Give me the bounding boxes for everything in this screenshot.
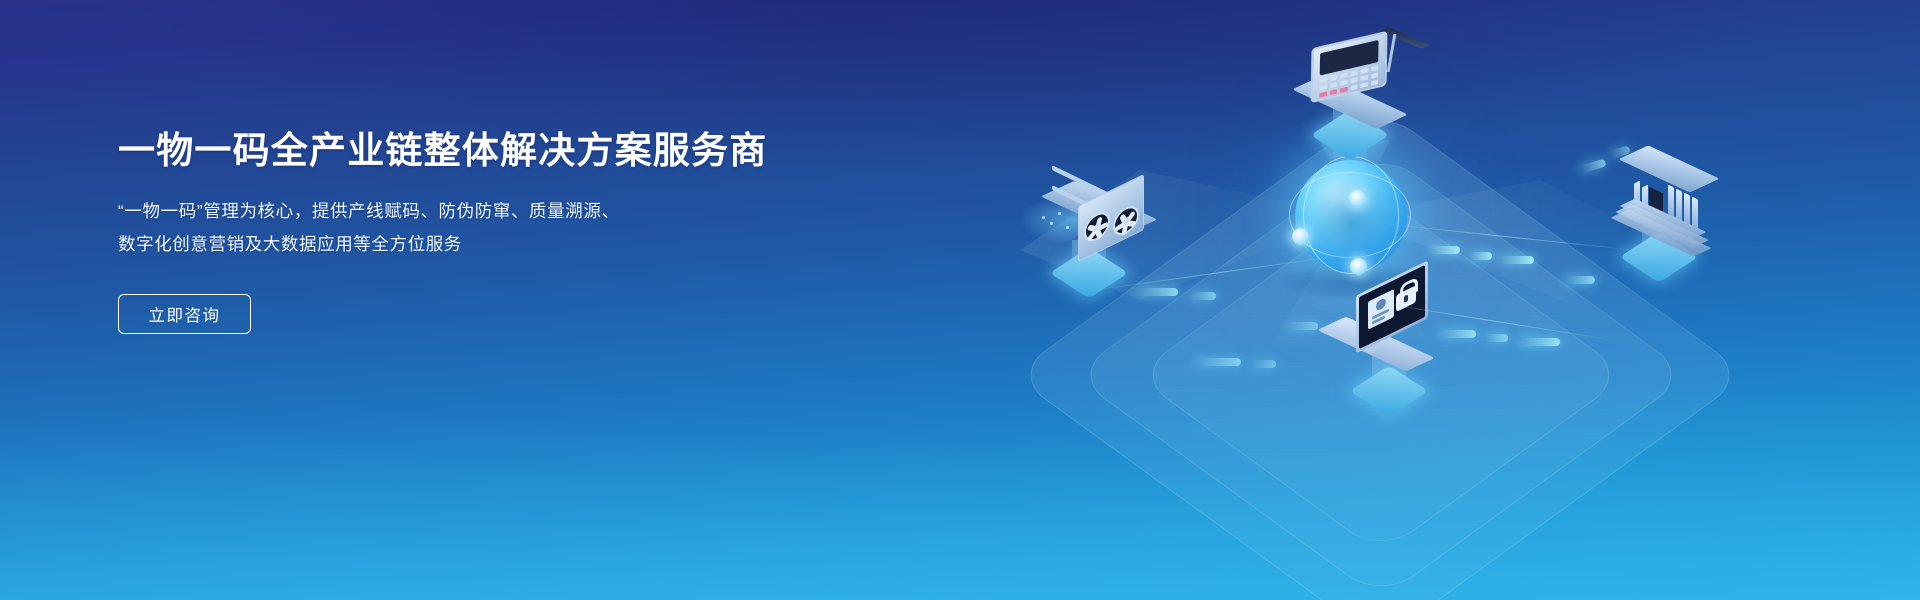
data-dash — [1138, 288, 1178, 296]
data-dash — [1288, 322, 1318, 330]
cooling-fan-icon — [1084, 207, 1110, 246]
data-dash — [1500, 256, 1534, 264]
hero-illustration — [1020, 0, 1920, 600]
data-dash — [1579, 159, 1606, 174]
consult-now-button[interactable]: 立即咨询 — [118, 294, 251, 334]
sphere-node-left — [1292, 228, 1309, 245]
pos-display-pole — [1387, 34, 1397, 72]
server-rig-icon — [1038, 168, 1178, 278]
laptop-security-icon — [1326, 278, 1456, 383]
data-dash — [1486, 334, 1508, 342]
data-dash — [1252, 360, 1276, 368]
hero-subtitle: “一物一码”管理为核心，提供产线赋码、防伪防窜、质量溯源、 数字化创意营销及大数… — [118, 195, 678, 261]
pos-terminal-icon — [1292, 30, 1422, 150]
hero-banner: 一物一码全产业链整体解决方案服务商 “一物一码”管理为核心，提供产线赋码、防伪防… — [0, 0, 1920, 600]
hero-subtitle-line-2: 数字化创意营销及大数据应用等全方位服务 — [118, 228, 678, 261]
pos-screen — [1311, 31, 1388, 103]
cooling-fan-icon-2 — [1113, 201, 1139, 240]
data-dash — [1520, 338, 1560, 346]
data-dash — [1190, 292, 1216, 300]
hero-subtitle-line-1: “一物一码”管理为核心，提供产线赋码、防伪防窜、质量溯源、 — [118, 195, 678, 228]
sphere-node-bottom — [1350, 258, 1367, 275]
network-sphere — [1295, 160, 1407, 272]
bank-building-icon — [1610, 142, 1740, 250]
data-dash — [1430, 246, 1460, 254]
laptop-screen — [1359, 265, 1425, 349]
data-dash — [1440, 330, 1476, 338]
data-dash — [1565, 276, 1595, 284]
data-dash — [1470, 252, 1492, 260]
hero-copy: 一物一码全产业链整体解决方案服务商 “一物一码”管理为核心，提供产线赋码、防伪防… — [118, 128, 818, 334]
data-dash — [1195, 358, 1241, 366]
id-card-icon — [1368, 289, 1394, 330]
page-title: 一物一码全产业链整体解决方案服务商 — [118, 128, 818, 173]
sphere-node-top — [1349, 190, 1366, 207]
